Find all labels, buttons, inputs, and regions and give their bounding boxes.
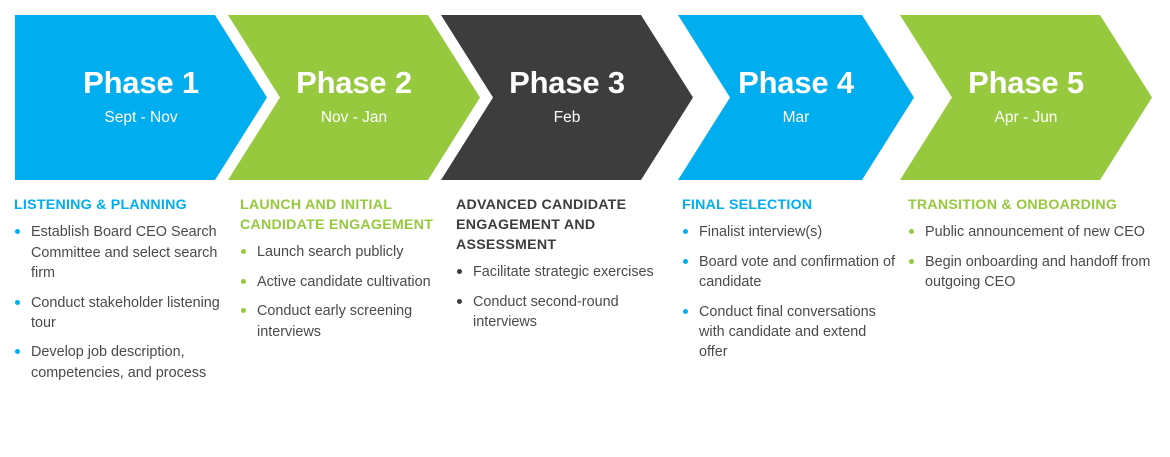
phase-task-item: Board vote and confirmation of candidate <box>682 252 898 293</box>
phase-dates: Feb <box>554 109 581 128</box>
phase-detail-heading: TRANSITION & ONBOARDING <box>908 195 1156 215</box>
phase-detail-columns: LISTENING & PLANNINGEstablish Board CEO … <box>0 195 1170 457</box>
phase-task-label: Finalist interview(s) <box>699 224 822 240</box>
phase-task-item: Launch search publicly <box>240 242 450 262</box>
phase-title: Phase 5 <box>968 67 1084 100</box>
phase-task-label: Establish Board CEO Search Committee and… <box>31 224 217 281</box>
bullet-icon <box>241 249 246 254</box>
phase-task-item: Conduct second-round interviews <box>456 292 674 333</box>
phase-dates: Mar <box>783 109 810 128</box>
phase-task-label: Facilitate strategic exercises <box>473 264 654 280</box>
phase-task-list: Launch search publiclyActive candidate c… <box>240 242 450 342</box>
phase-chevron-4: Phase 4Mar <box>678 15 914 180</box>
phase-task-label: Conduct second-round interviews <box>473 294 619 330</box>
phase-task-label: Conduct early screening interviews <box>257 303 412 339</box>
bullet-icon <box>683 309 688 314</box>
phase-task-item: Conduct stakeholder listening tour <box>14 293 232 334</box>
phase-dates: Apr - Jun <box>995 109 1058 128</box>
bullet-icon <box>15 229 20 234</box>
phase-title: Phase 4 <box>738 67 854 100</box>
phase-detail-heading: LISTENING & PLANNING <box>14 195 232 215</box>
phase-task-item: Conduct early screening interviews <box>240 301 450 342</box>
phase-task-label: Board vote and confirmation of candidate <box>699 254 895 290</box>
process-timeline-diagram: Phase 1Sept - NovPhase 2Nov - JanPhase 3… <box>0 0 1170 457</box>
phase-task-item: Begin onboarding and handoff from outgoi… <box>908 252 1156 293</box>
bullet-icon <box>241 279 246 284</box>
phase-dates: Sept - Nov <box>104 109 177 128</box>
phase-detail-column-4: FINAL SELECTIONFinalist interview(s)Boar… <box>682 195 898 372</box>
phase-task-label: Develop job description, competencies, a… <box>31 344 206 380</box>
phase-detail-heading: FINAL SELECTION <box>682 195 898 215</box>
phase-dates: Nov - Jan <box>321 109 387 128</box>
bullet-icon <box>457 269 462 274</box>
phase-detail-heading: ADVANCED CANDIDATE ENGAGEMENT AND ASSESS… <box>456 195 674 255</box>
phase-detail-heading: LAUNCH AND INITIAL CANDIDATE ENGAGEMENT <box>240 195 450 235</box>
phase-title: Phase 2 <box>296 67 412 100</box>
phase-task-list: Facilitate strategic exercisesConduct se… <box>456 262 674 332</box>
phase-detail-column-1: LISTENING & PLANNINGEstablish Board CEO … <box>14 195 232 392</box>
phase-task-item: Establish Board CEO Search Committee and… <box>14 222 232 283</box>
phase-task-list: Finalist interview(s)Board vote and conf… <box>682 222 898 363</box>
phase-chevron-5: Phase 5Apr - Jun <box>900 15 1152 180</box>
phase-task-label: Active candidate cultivation <box>257 274 431 290</box>
phase-detail-column-5: TRANSITION & ONBOARDINGPublic announceme… <box>908 195 1156 302</box>
phase-task-item: Facilitate strategic exercises <box>456 262 674 282</box>
phase-detail-column-2: LAUNCH AND INITIAL CANDIDATE ENGAGEMENTL… <box>240 195 450 351</box>
phase-task-label: Begin onboarding and handoff from outgoi… <box>925 254 1150 290</box>
bullet-icon <box>683 229 688 234</box>
bullet-icon <box>15 349 20 354</box>
phase-task-list: Establish Board CEO Search Committee and… <box>14 222 232 383</box>
phase-chevron-band: Phase 1Sept - NovPhase 2Nov - JanPhase 3… <box>0 0 1170 195</box>
phase-task-label: Launch search publicly <box>257 244 403 260</box>
phase-task-item: Conduct final conversations with candida… <box>682 302 898 363</box>
bullet-icon <box>457 299 462 304</box>
bullet-icon <box>683 259 688 264</box>
phase-task-label: Public announcement of new CEO <box>925 224 1145 240</box>
phase-title: Phase 3 <box>509 67 625 100</box>
phase-task-item: Develop job description, competencies, a… <box>14 342 232 383</box>
phase-task-item: Finalist interview(s) <box>682 222 898 242</box>
phase-task-item: Public announcement of new CEO <box>908 222 1156 242</box>
phase-task-label: Conduct final conversations with candida… <box>699 304 876 361</box>
phase-task-item: Active candidate cultivation <box>240 272 450 292</box>
phase-chevron-1: Phase 1Sept - Nov <box>15 15 267 180</box>
phase-title: Phase 1 <box>83 67 199 100</box>
bullet-icon <box>909 259 914 264</box>
phase-task-label: Conduct stakeholder listening tour <box>31 295 220 331</box>
phase-task-list: Public announcement of new CEOBegin onbo… <box>908 222 1156 292</box>
phase-detail-column-3: ADVANCED CANDIDATE ENGAGEMENT AND ASSESS… <box>456 195 674 342</box>
bullet-icon <box>15 300 20 305</box>
bullet-icon <box>241 308 246 313</box>
bullet-icon <box>909 229 914 234</box>
